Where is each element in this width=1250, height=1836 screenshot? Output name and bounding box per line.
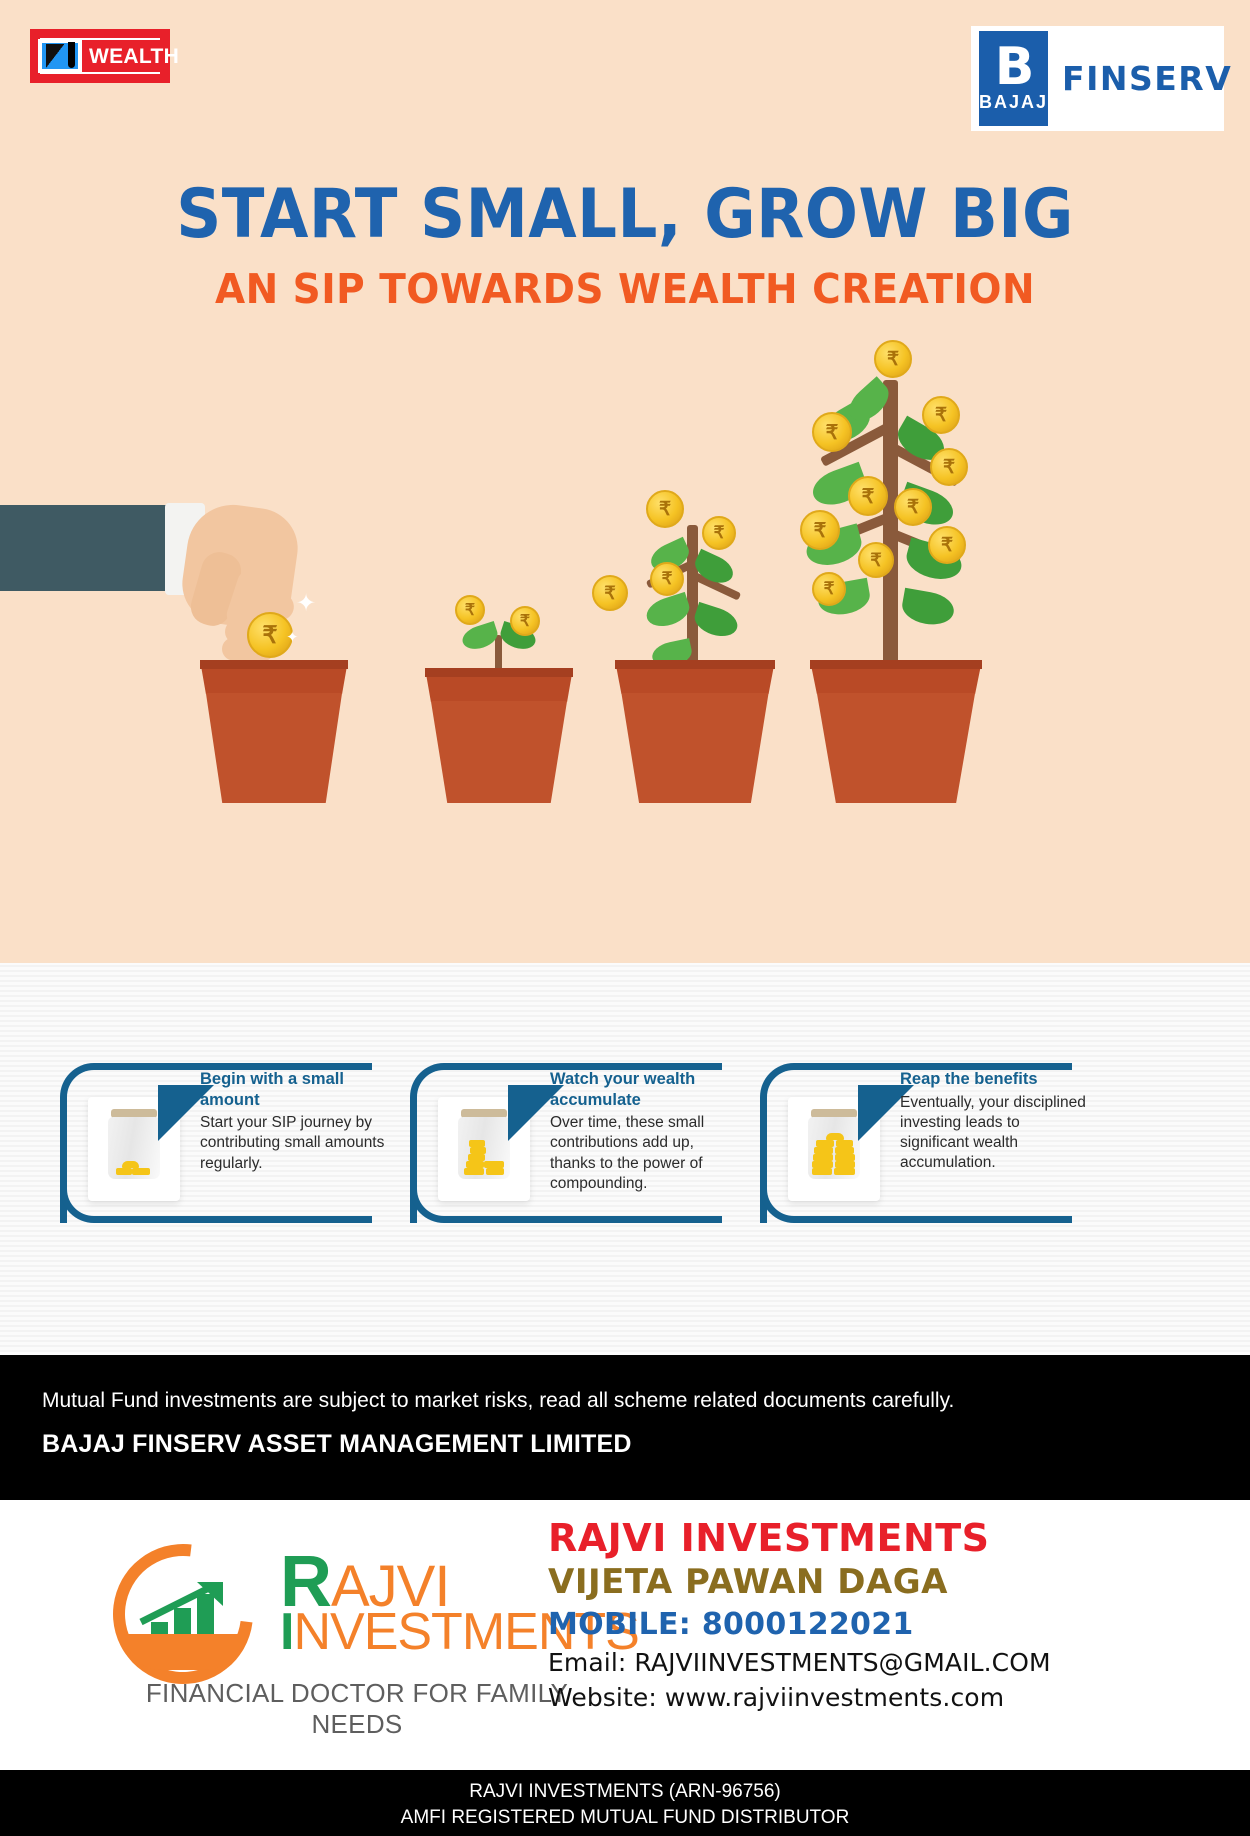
logo-growth-arrow-icon [139,1580,235,1626]
rupee-coin-icon: ₹ [650,562,684,596]
contact-block: RAJVI INVESTMENTS VIJETA PAWAN DAGA MOBI… [548,1518,1208,1712]
contact-website[interactable]: Website: www.rajviinvestments.com [548,1683,1208,1712]
rupee-coin-icon: ₹ [646,490,684,528]
pot-stage-3 [615,660,775,803]
pot-stage-1 [200,660,348,803]
contact-mobile[interactable]: MOBILE: 8000122021 [548,1607,1208,1642]
finserv-label: FINSERV [1062,59,1232,98]
rupee-coin-icon: ₹ [592,575,628,611]
rupee-coin-icon: ₹ [702,516,736,550]
card-title: Watch your wealth accumulate [550,1069,736,1110]
bajaj-finserv-logo: B BAJAJ FINSERV [971,26,1224,131]
rupee-coin-icon: ₹ [922,396,960,434]
logo-tagline: FINANCIAL DOCTOR FOR FAMILY NEEDS [101,1678,613,1740]
card-body: Over time, these small contributions add… [550,1113,736,1194]
rupee-coin-icon: ₹ [812,412,852,452]
logo-hand-icon [125,1634,241,1670]
sparkle-icon: ✦ [286,630,299,645]
nj-monogram-icon [38,39,82,73]
contact-email[interactable]: Email: RAJVIINVESTMENTS@GMAIL.COM [548,1648,1208,1677]
card-body: Start your SIP journey by contributing s… [200,1113,386,1173]
rupee-coin-icon: ₹ [848,476,888,516]
rupee-coin-icon: ₹ [894,488,932,526]
amfi-line: AMFI REGISTERED MUTUAL FUND DISTRIBUTOR [0,1805,1250,1831]
card-text-block: Watch your wealth accumulate Over time, … [550,1069,736,1194]
rupee-coin-icon: ₹ [510,606,540,636]
benefit-card-3: Reap the benefits Eventually, your disci… [760,1063,1072,1223]
pot-stage-2 [425,668,573,803]
rupee-coin-icon: ₹ [812,572,846,606]
rajvi-investments-logo: RAJVI INVESTMENTS FINANCIAL DOCTOR FOR F… [95,1530,555,1720]
bajaj-b-icon: B BAJAJ [979,31,1048,126]
benefits-section: Begin with a small amount Start your SIP… [0,963,1250,1355]
card-title: Begin with a small amount [200,1069,386,1110]
leaf-shape [691,602,741,641]
nj-wealth-logo: WEALTH [30,29,170,83]
card-text-block: Reap the benefits Eventually, your disci… [900,1069,1086,1173]
page-subtitle: AN SIP TOWARDS WEALTH CREATION [31,265,1219,313]
pot-stage-4 [810,660,982,803]
benefit-card-2: Watch your wealth accumulate Over time, … [410,1063,722,1223]
benefit-cards-row: Begin with a small amount Start your SIP… [60,1063,1072,1223]
arn-line: RAJVI INVESTMENTS (ARN-96756) [0,1779,1250,1805]
disclaimer-band: Mutual Fund investments are subject to m… [0,1355,1250,1500]
rupee-coin-icon: ₹ [800,510,840,550]
leaf-shape [900,588,957,629]
card-text-block: Begin with a small amount Start your SIP… [200,1069,386,1174]
contact-firm-name: RAJVI INVESTMENTS [548,1518,1208,1560]
hero-section: WEALTH B BAJAJ FINSERV START SMALL, GROW… [0,0,1250,963]
distributor-footer: RAJVI INVESTMENTS FINANCIAL DOCTOR FOR F… [0,1500,1250,1770]
amc-company-name: BAJAJ FINSERV ASSET MANAGEMENT LIMITED [42,1430,1208,1459]
rupee-coin-icon: ₹ [858,542,894,578]
leaf-shape [643,592,693,631]
rupee-coin-icon: ₹ [930,448,968,486]
arn-bar: RAJVI INVESTMENTS (ARN-96756) AMFI REGIS… [0,1770,1250,1836]
rupee-coin-icon: ₹ [455,595,485,625]
bajaj-b-letter: B [995,44,1033,91]
card-title: Reap the benefits [900,1069,1086,1090]
page-title: START SMALL, GROW BIG [50,175,1200,254]
benefit-card-1: Begin with a small amount Start your SIP… [60,1063,372,1223]
nj-wealth-label: WEALTH [89,46,179,67]
contact-person-name: VIJETA PAWAN DAGA [548,1562,1208,1603]
card-body: Eventually, your disciplined investing l… [900,1093,1086,1174]
rupee-coin-icon: ₹ [928,526,966,564]
infographic-page: WEALTH B BAJAJ FINSERV START SMALL, GROW… [0,0,1250,1836]
bajaj-word-label: BAJAJ [979,92,1048,113]
sparkle-icon: ✦ [296,592,316,616]
risk-disclaimer-text: Mutual Fund investments are subject to m… [42,1387,1208,1414]
growth-illustration: ₹ ✦ ✦ ₹ ₹ ₹ ₹ [0,330,1250,963]
rupee-coin-icon: ₹ [874,340,912,378]
